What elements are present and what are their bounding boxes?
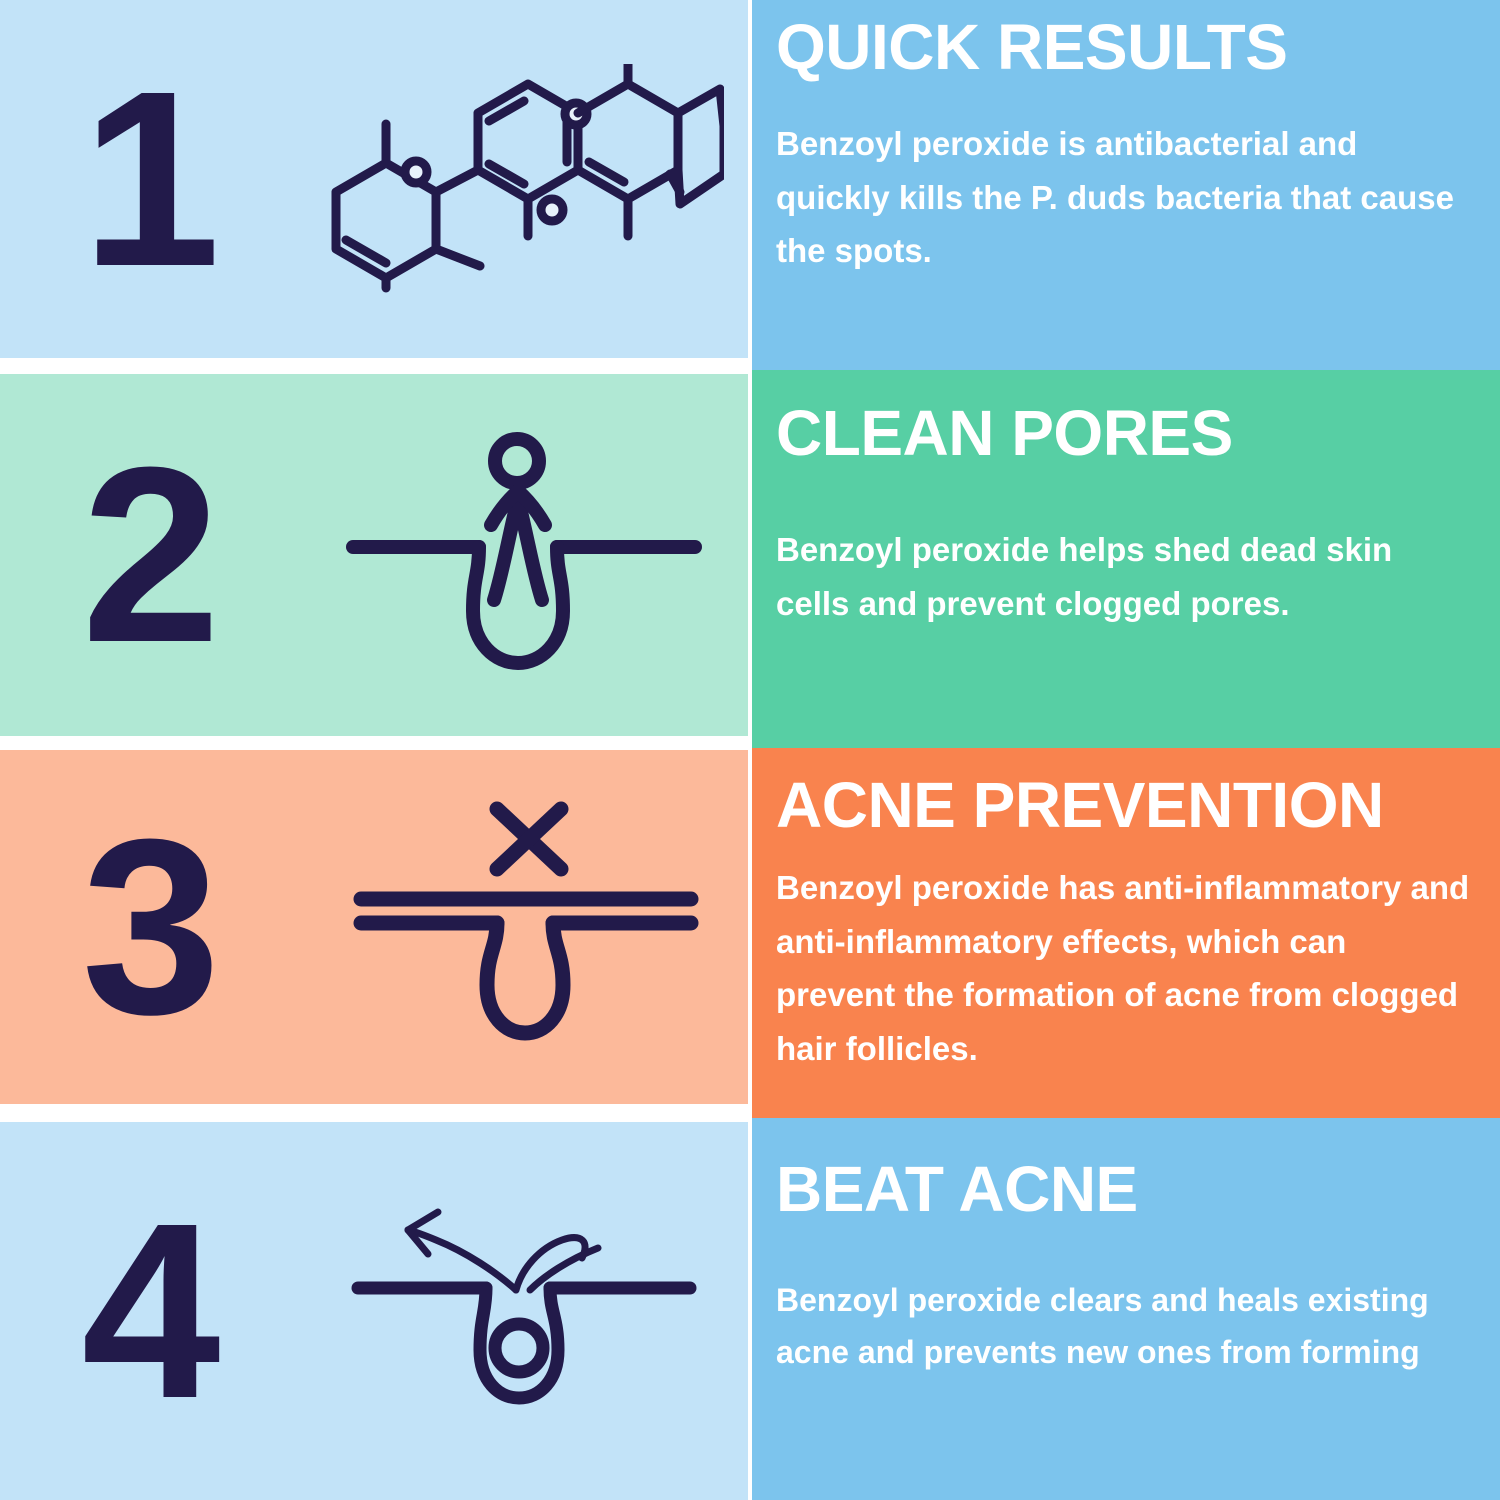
step-number-4: 4 [0,1186,300,1436]
step-number-1: 1 [0,54,300,304]
panel-3-title: ACNE PREVENTION [776,772,1474,839]
panel-1-left: 1 [0,0,748,358]
pore-unclogging-arrow-icon [339,425,709,685]
benzoyl-peroxide-benefits-infographic: 1 [0,0,1500,1500]
blocked-pore-cross-icon [339,787,709,1067]
panel-4-body: Benzoyl peroxide clears and heals existi… [776,1275,1474,1379]
panel-4-right: BEAT ACNE Benzoyl peroxide clears and he… [752,1118,1500,1500]
step-number-2: 2 [0,430,300,680]
panel-1-right: QUICK RESULTS Benzoyl peroxide is antiba… [752,0,1500,370]
panel-1-icon-wrap [300,64,748,294]
panel-3-left: 3 [0,750,748,1104]
panel-2-right: CLEAN PORES Benzoyl peroxide helps shed … [752,370,1500,748]
panel-4-title: BEAT ACNE [776,1156,1474,1223]
panel-4-left: 4 [0,1122,748,1500]
panel-1-body: Benzoyl peroxide is antibacterial and qu… [776,117,1474,277]
panel-4-icon-wrap [300,1186,748,1436]
pore-extraction-arrow-icon [344,1186,704,1436]
panel-3-body: Benzoyl peroxide has anti-inflammatory a… [776,861,1474,1075]
panel-3-right: ACNE PREVENTION Benzoyl peroxide has ant… [752,748,1500,1118]
step-number-3: 3 [0,802,300,1052]
panel-2-body: Benzoyl peroxide helps shed dead skin ce… [776,523,1474,630]
panel-1-title: QUICK RESULTS [776,14,1474,81]
panel-3-icon-wrap [300,787,748,1067]
benzoyl-peroxide-molecule-icon [324,64,724,294]
panel-2-title: CLEAN PORES [776,400,1474,467]
panel-2-left: 2 [0,374,748,736]
panel-2-icon-wrap [300,425,748,685]
